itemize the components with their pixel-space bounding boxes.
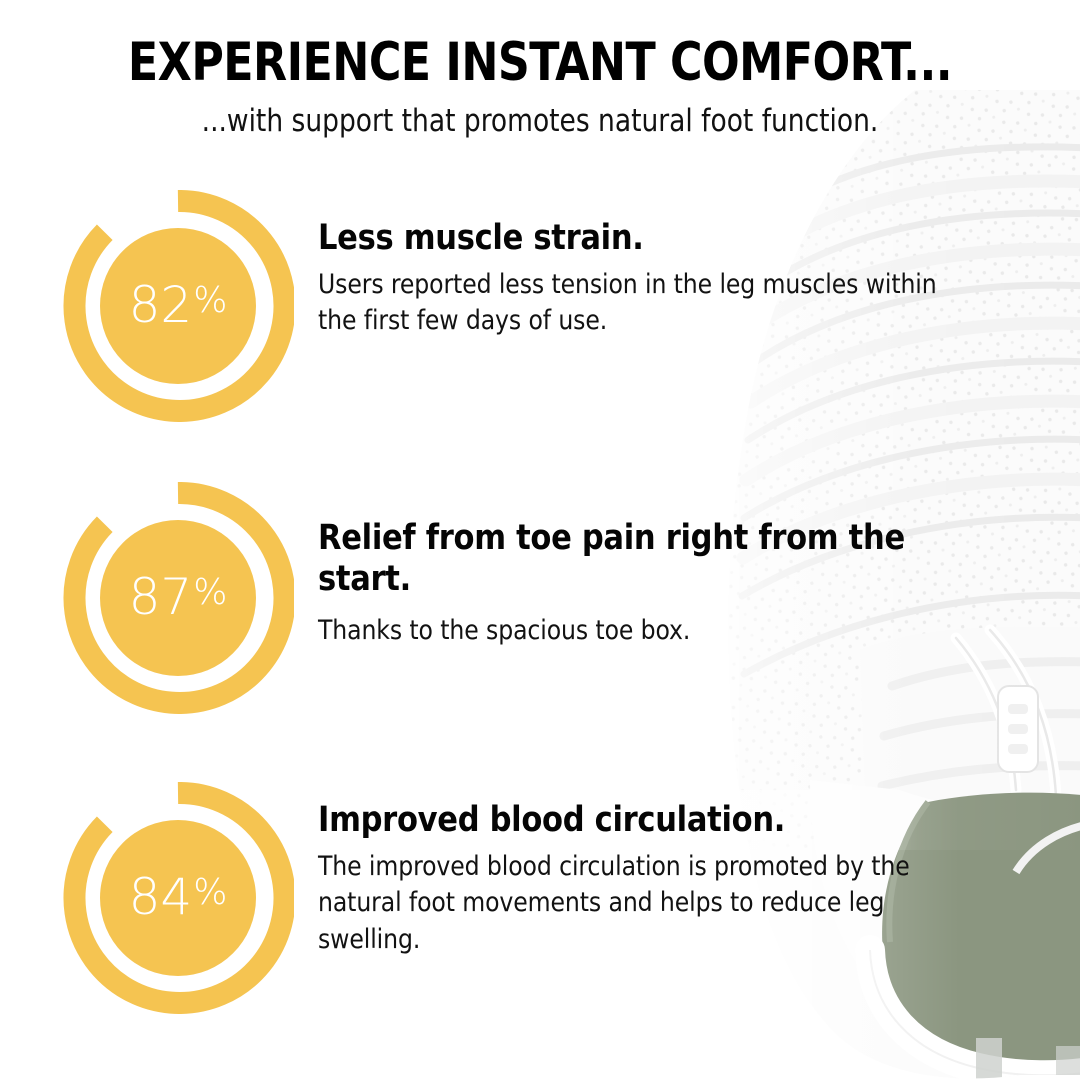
stat-row: 82% Less muscle strain. Users reported l… [0, 190, 1010, 422]
donut-value-unit: % [193, 875, 227, 911]
percentage-donut: 84% [62, 782, 294, 1014]
stat-body: Thanks to the spacious toe box. [318, 613, 974, 649]
infographic-canvas: EXPERIENCE INSTANT COMFORT... ...with su… [0, 0, 1080, 1080]
donut-value: 84% [62, 782, 294, 1014]
donut-value: 82% [62, 190, 294, 422]
percentage-donut: 82% [62, 190, 294, 422]
page-subtitle: ...with support that promotes natural fo… [27, 104, 1053, 138]
stat-body: The improved blood circulation is promot… [318, 849, 974, 958]
donut-value-number: 82 [129, 280, 193, 330]
donut-value-number: 84 [129, 872, 193, 922]
stat-text-block: Relief from toe pain right from the star… [294, 482, 994, 649]
page-title: EXPERIENCE INSTANT COMFORT... [38, 36, 1042, 89]
stat-body: Users reported less tension in the leg m… [318, 267, 974, 339]
percentage-donut: 87% [62, 482, 294, 714]
stat-heading: Less muscle strain. [318, 218, 974, 259]
stat-row: 87% Relief from toe pain right from the … [0, 482, 1010, 714]
donut-value-number: 87 [129, 572, 193, 622]
donut-value-unit: % [193, 283, 227, 319]
donut-value-unit: % [193, 575, 227, 611]
donut-value: 87% [62, 482, 294, 714]
stat-heading: Relief from toe pain right from the star… [318, 518, 974, 601]
stat-text-block: Less muscle strain. Users reported less … [294, 190, 994, 340]
header: EXPERIENCE INSTANT COMFORT... ...with su… [0, 36, 1080, 138]
stat-heading: Improved blood circulation. [318, 800, 974, 841]
stat-text-block: Improved blood circulation. The improved… [294, 782, 994, 958]
stat-row: 84% Improved blood circulation. The impr… [0, 782, 1010, 1014]
